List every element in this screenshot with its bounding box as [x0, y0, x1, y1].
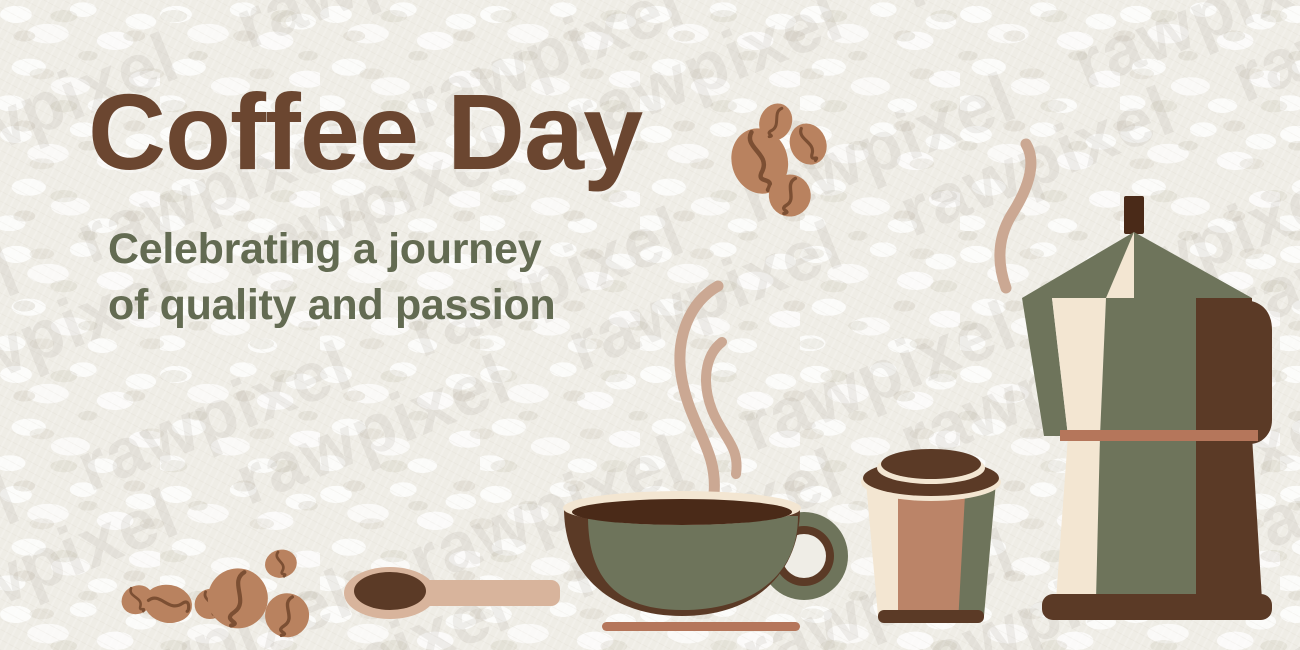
page-subtitle: Celebrating a journey of quality and pas…	[108, 222, 555, 334]
takeaway-cup	[846, 440, 1016, 630]
coffee-day-banner: rawpixelrawpixelrawpixelrawpixelrawpixel…	[0, 0, 1300, 650]
watermark-text: rawpixel	[0, 231, 31, 413]
bean-icon	[201, 562, 274, 635]
moka-lid-right	[1134, 232, 1252, 298]
saucer	[602, 622, 800, 631]
watermark-text: rawpixel	[0, 459, 31, 641]
bean-icon	[260, 588, 314, 642]
watermark-text: rawpixel	[1062, 0, 1300, 105]
moka-lower-brown	[1196, 436, 1262, 600]
steam-wisp	[680, 286, 718, 494]
moka-knob	[1124, 196, 1144, 234]
moka-upper-green-mid	[1100, 298, 1196, 436]
measuring-spoon	[344, 566, 564, 622]
moka-lower-cream	[1056, 436, 1100, 600]
page-title: Coffee Day	[88, 78, 642, 186]
moka-upper-brown	[1196, 298, 1252, 436]
watermark-text: rawpixel	[224, 0, 521, 65]
moka-base	[1042, 594, 1272, 620]
cup-base	[878, 610, 984, 623]
watermark-text: rawpixel	[1220, 0, 1300, 118]
watermark-text: rawpixel	[224, 338, 521, 520]
watermark-text: rawpixel	[888, 0, 1185, 24]
watermark-text: rawpixel	[730, 0, 1027, 11]
coffee-beans-ground-cluster	[112, 552, 312, 642]
moka-mid-band	[1060, 430, 1258, 441]
moka-pot	[1000, 196, 1300, 636]
coffee-beans-title-cluster	[706, 96, 846, 216]
bean-icon	[262, 546, 300, 581]
subtitle-line-2: of quality and passion	[108, 278, 555, 334]
watermark-text: rawpixel	[66, 325, 363, 507]
subtitle-line-1: Celebrating a journey	[108, 222, 555, 278]
cup-lid-top	[881, 449, 981, 479]
spoon-bowl-inner	[354, 572, 426, 610]
bean-icon	[141, 581, 195, 627]
coffee-surface	[572, 499, 792, 525]
coffee-cup	[558, 490, 850, 630]
moka-lower-green	[1096, 436, 1196, 600]
steam-cup	[660, 280, 780, 510]
